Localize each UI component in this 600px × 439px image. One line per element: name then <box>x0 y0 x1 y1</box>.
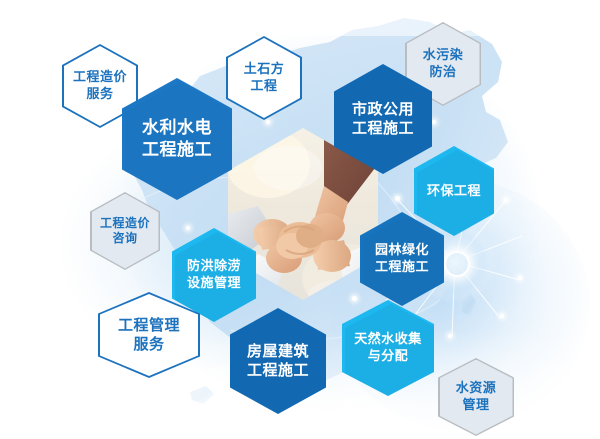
hexagon-label-line: 服务 <box>73 86 127 103</box>
hexagon-label: 市政公用工程施工 <box>352 100 414 138</box>
hexagon-label: 水资源管理 <box>456 380 497 413</box>
hexagon-label: 工程造价咨询 <box>100 216 150 247</box>
network-dot <box>344 402 350 408</box>
hexagon-label-line: 防洪除涝 <box>187 258 241 275</box>
hexagon-label: 水利水电工程施工 <box>142 117 212 161</box>
hexagon-label-line: 天然水收集 <box>354 331 422 348</box>
hexagon-label-line: 水资源 <box>456 380 497 397</box>
hexagon-tushifang-gongcheng[interactable]: 土石方工程 <box>226 36 302 120</box>
hexagon-label-line: 工程施工 <box>247 361 309 380</box>
hexagon-label-line: 工程管理 <box>118 316 180 335</box>
hexagon-label-line: 工程施工 <box>375 259 429 276</box>
hexagon-label-line: 园林绿化 <box>375 242 429 259</box>
hexagon-label-line: 工程施工 <box>352 119 414 138</box>
hexagon-label-line: 工程施工 <box>142 139 212 161</box>
hexagon-label-line: 水利水电 <box>142 117 212 139</box>
hexagon-label-line: 与分配 <box>354 348 422 365</box>
hexagon-label: 园林绿化工程施工 <box>375 242 429 275</box>
hexagon-label-line: 设施管理 <box>187 275 241 292</box>
network-dot <box>186 226 190 230</box>
hexagon-label: 防洪除涝设施管理 <box>187 258 241 291</box>
network-dot <box>518 276 522 280</box>
network-dot <box>432 120 436 124</box>
hexagon-label: 天然水收集与分配 <box>354 331 422 364</box>
hexagon-label: 房屋建筑工程施工 <box>247 342 309 380</box>
hexagon-shili-shuidian-gongcheng-shigong[interactable]: 水利水电工程施工 <box>122 78 232 200</box>
network-dot <box>266 120 270 124</box>
hexagon-label-line: 工程 <box>244 78 285 95</box>
hexagon-huanbao-gongcheng[interactable]: 环保工程 <box>414 146 494 236</box>
hexagon-label-line: 服务 <box>118 335 180 354</box>
hexagon-gongcheng-guanli-fuwu[interactable]: 工程管理服务 <box>98 292 200 378</box>
network-node-ring <box>444 251 470 277</box>
hexagon-shuiziyuan-guanli[interactable]: 水资源管理 <box>438 358 514 436</box>
hexagon-label: 水污染防治 <box>423 47 464 80</box>
hexagon-label: 工程造价服务 <box>73 69 127 102</box>
hexagon-label: 土石方工程 <box>244 61 285 94</box>
hexagon-gongcheng-zaojia-zixun[interactable]: 工程造价咨询 <box>90 192 160 270</box>
hexagon-label-line: 管理 <box>456 397 497 414</box>
hexagon-label-line: 水污染 <box>423 47 464 64</box>
network-dot <box>352 296 357 301</box>
hexagon-tianranshui-shouji-yu-fenpei[interactable]: 天然水收集与分配 <box>342 300 434 396</box>
hexagon-label-line: 市政公用 <box>352 100 414 119</box>
infographic-canvas: 工程造价服务土石方工程水污染防治水利水电工程施工市政公用工程施工环保工程工程造价… <box>0 0 600 439</box>
hexagon-fangwu-jianzhu-gongcheng-shigong[interactable]: 房屋建筑工程施工 <box>230 308 326 414</box>
network-dot <box>504 198 508 202</box>
network-dot <box>395 196 400 201</box>
hexagon-label-line: 土石方 <box>244 61 285 78</box>
hexagon-label-line: 防治 <box>423 64 464 81</box>
network-dot <box>500 314 504 318</box>
hexagon-label-line: 工程造价 <box>100 216 150 231</box>
hexagon-label: 工程管理服务 <box>118 316 180 354</box>
hexagon-label-line: 房屋建筑 <box>247 342 309 361</box>
hexagon-label-line: 工程造价 <box>73 69 127 86</box>
hexagon-label-line: 咨询 <box>100 231 150 246</box>
hexagon-label: 环保工程 <box>427 183 481 200</box>
network-dot <box>448 334 452 338</box>
hexagon-label-line: 环保工程 <box>427 183 481 200</box>
